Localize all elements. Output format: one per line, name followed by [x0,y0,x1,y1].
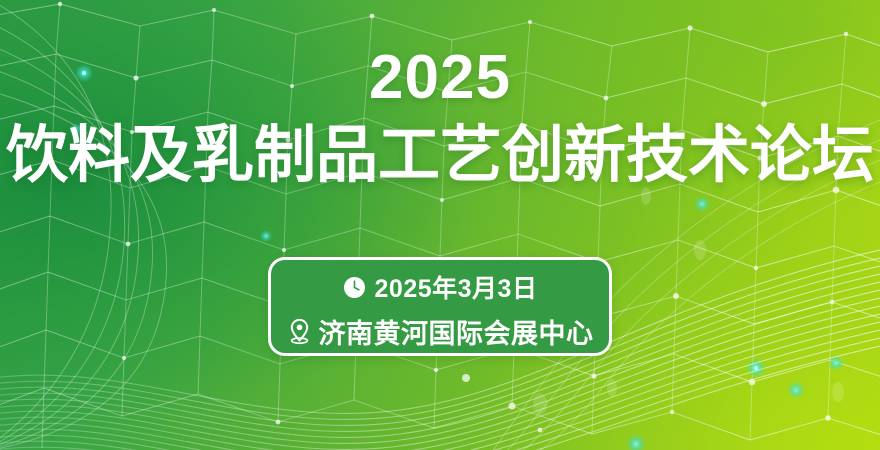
event-title: 饮料及乳制品工艺创新技术论坛 [0,119,880,193]
event-year: 2025 [0,47,880,109]
clock-icon [343,276,366,299]
event-banner: 2025 饮料及乳制品工艺创新技术论坛 2025年3月3日 [0,0,880,450]
location-pin-icon [287,318,312,345]
event-date-row: 2025年3月3日 [271,260,609,309]
event-venue-text: 济南黄河国际会展中心 [319,312,594,351]
event-date-text: 2025年3月3日 [375,269,538,305]
event-venue-row: 济南黄河国际会展中心 [271,309,609,353]
event-info-box: 2025年3月3日 济南黄河国际会展中心 [268,257,612,356]
